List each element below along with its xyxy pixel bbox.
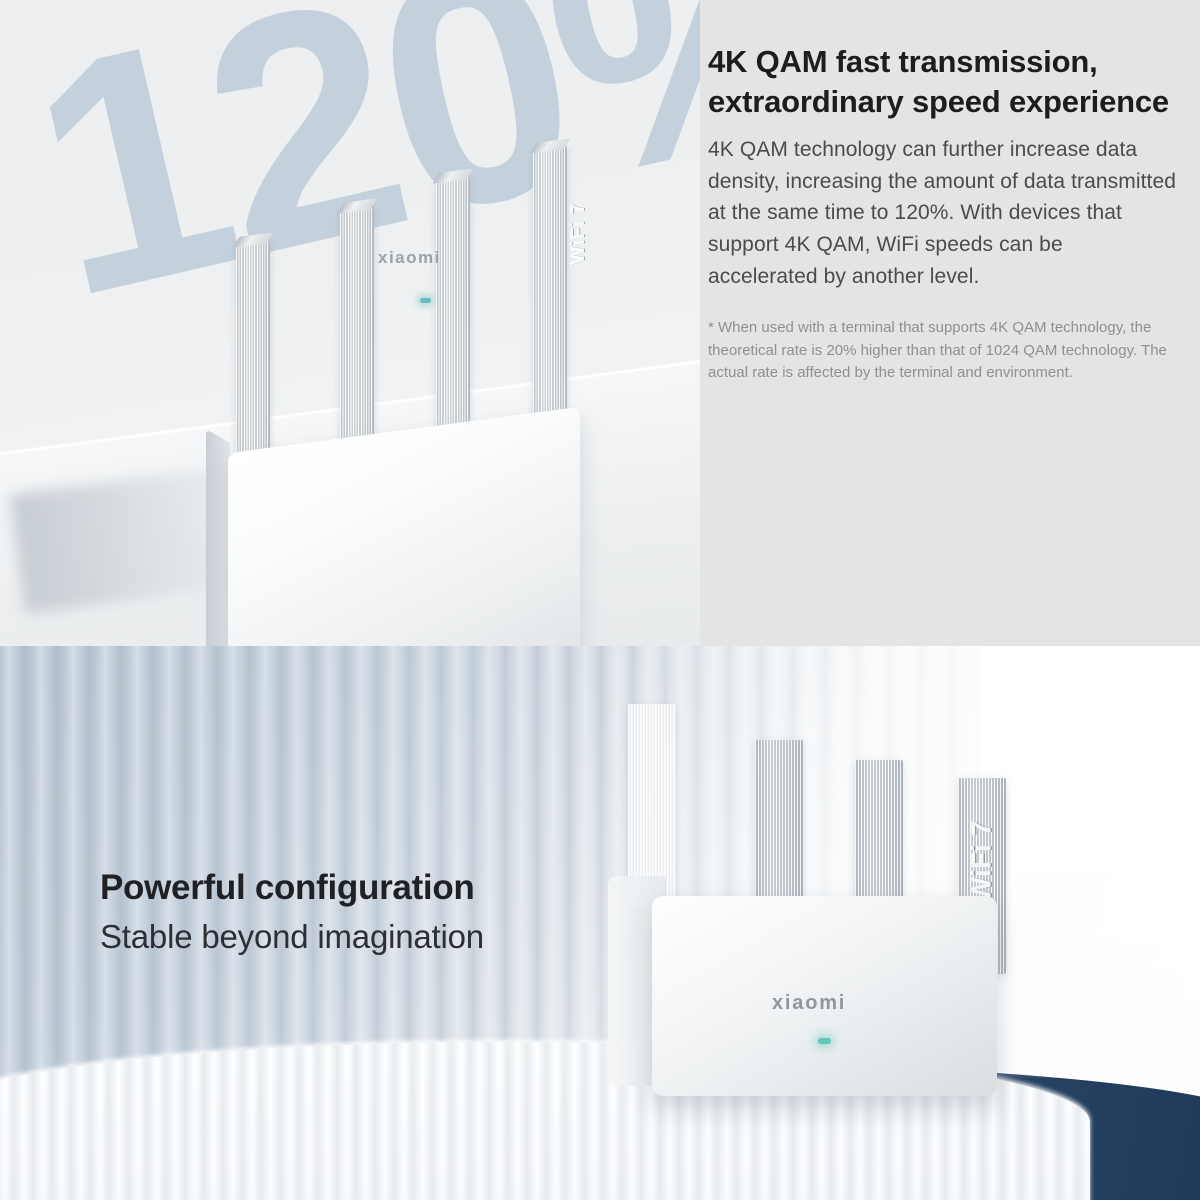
top-feature-panel: 120% WiFi 7 xiaomi 4K QAM fast transmiss… <box>0 0 1200 646</box>
status-led-indicator <box>818 1038 831 1044</box>
bottom-copy-block: Powerful configuration Stable beyond ima… <box>100 868 620 956</box>
product-marketing-page: 120% WiFi 7 xiaomi 4K QAM fast transmiss… <box>0 0 1200 1200</box>
top-footnote-disclaimer: * When used with a terminal that support… <box>708 317 1178 385</box>
bottom-feature-panel: WiFi 7 xiaomi Powerful configuration Sta… <box>0 646 1200 1200</box>
router-body-front <box>228 407 580 646</box>
top-body-paragraph: 4K QAM technology can further increase d… <box>708 134 1178 294</box>
bottom-heading: Powerful configuration <box>100 868 620 908</box>
antenna-cap-icon <box>433 168 474 183</box>
wifi7-badge-label: WiFi 7 <box>568 167 590 300</box>
router-body-side <box>206 429 230 646</box>
top-copy-block: 4K QAM fast transmission, extraordinary … <box>708 42 1178 385</box>
antenna-cap-icon <box>233 232 274 247</box>
xiaomi-logo: xiaomi <box>772 992 846 1015</box>
top-product-photo: 120% WiFi 7 xiaomi <box>0 0 700 646</box>
router-device-bottom: WiFi 7 xiaomi <box>620 686 1020 1106</box>
antenna-cap-icon <box>337 198 378 213</box>
status-led-indicator <box>420 298 431 303</box>
xiaomi-logo: xiaomi <box>378 248 441 268</box>
router-device-top: WiFi 7 xiaomi <box>228 150 608 620</box>
top-heading: 4K QAM fast transmission, extraordinary … <box>708 42 1178 123</box>
bottom-subheading: Stable beyond imagination <box>100 918 620 956</box>
